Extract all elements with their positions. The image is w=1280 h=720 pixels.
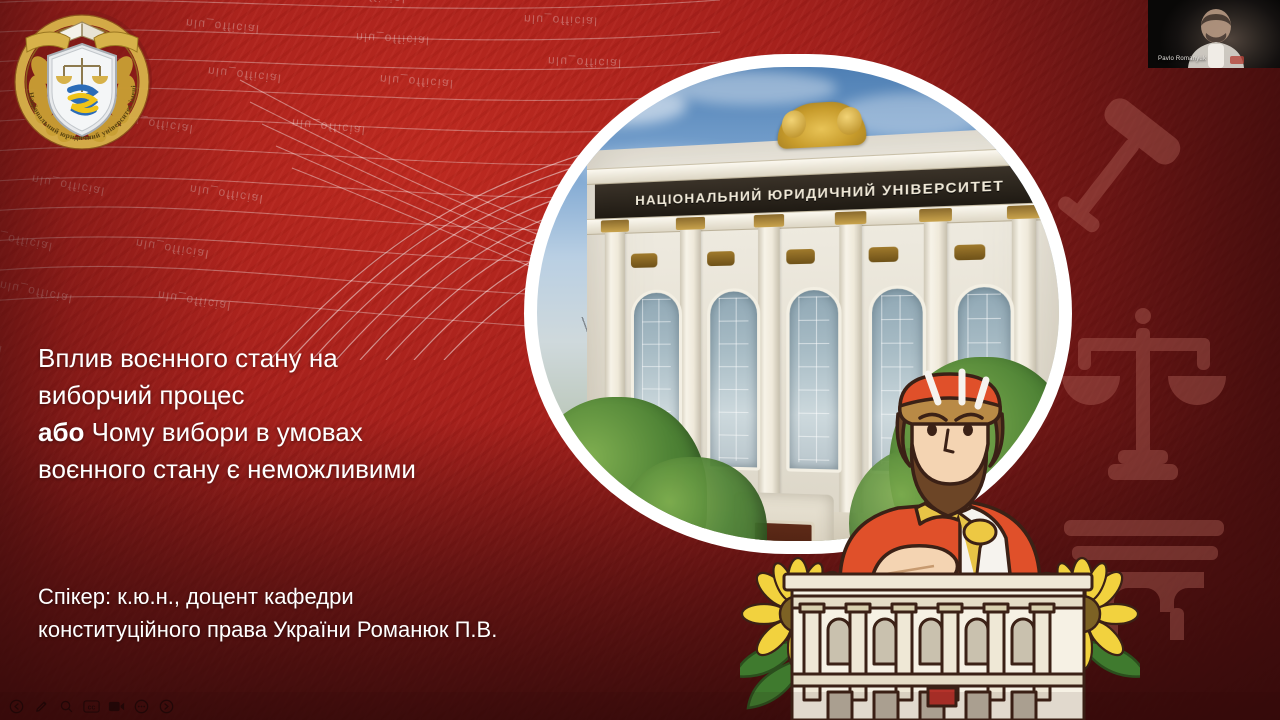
building-crest — [777, 100, 866, 150]
svg-text:cc: cc — [88, 704, 96, 711]
watermark-text: nlu_official — [31, 172, 107, 199]
speaker-line-2: конституційного права України Романюк П.… — [38, 613, 638, 646]
watermark-text: nlu_official — [207, 64, 283, 86]
title-line-3-rest: Чому вибори в умовах — [84, 417, 362, 447]
watermark-text: nlu_official — [291, 116, 367, 138]
magnifier-icon[interactable] — [58, 698, 75, 715]
university-emblem: Національний юридичний університет імені… — [8, 6, 156, 154]
watermark-text: nlu_official — [0, 278, 74, 306]
watermark-text: nlu_official — [135, 236, 211, 261]
slide-title: Вплив воєнного стану на виборчий процес … — [38, 340, 538, 488]
presentation-toolbar: cc — [0, 692, 1280, 720]
video-camera-icon[interactable] — [108, 698, 125, 715]
watermark-text: nlu_official — [380, 72, 455, 91]
gavel-icon — [1040, 93, 1186, 246]
title-line-4: воєнного стану є неможливими — [38, 451, 538, 488]
pen-icon[interactable] — [33, 698, 50, 715]
watermark-text: nlu_official — [157, 288, 233, 313]
slide-speaker: Спікер: к.ю.н., доцент кафедри конституц… — [38, 580, 638, 646]
watermark-text: nlu_official — [524, 12, 599, 29]
title-line-2: виборчий процес — [38, 377, 538, 414]
watermark-text: nlu_official — [332, 0, 407, 6]
participant-video-tile[interactable]: Pavlo Romanyuk — [1148, 0, 1280, 68]
more-ellipsis-icon[interactable] — [133, 698, 150, 715]
back-arrow-icon[interactable] — [8, 698, 25, 715]
watermark-text: nlu_official — [0, 328, 4, 357]
title-line-1: Вплив воєнного стану на — [38, 340, 538, 377]
title-line-3-bold: або — [38, 417, 84, 447]
watermark-text: nlu_official — [185, 16, 260, 36]
speaker-line-1: Спікер: к.ю.н., доцент кафедри — [38, 580, 638, 613]
title-line-3: або Чому вибори в умовах — [38, 414, 538, 451]
participant-name-label: Pavlo Romanyuk — [1158, 56, 1206, 62]
presentation-slide: nlu_official nlu_official nlu_official n… — [0, 0, 1280, 720]
watermark-text: nlu_official — [0, 226, 54, 254]
watermark-text: nlu_official — [548, 54, 623, 71]
facade-inscription-text: НАЦІОНАЛЬНИЙ ЮРИДИЧНИЙ УНІВЕРСИТЕТ — [635, 177, 1004, 208]
watermark-text: nlu_official — [356, 30, 431, 48]
watermark-text: nlu_official — [189, 182, 265, 206]
cc-icon[interactable]: cc — [83, 698, 100, 715]
forward-arrow-icon[interactable] — [158, 698, 175, 715]
